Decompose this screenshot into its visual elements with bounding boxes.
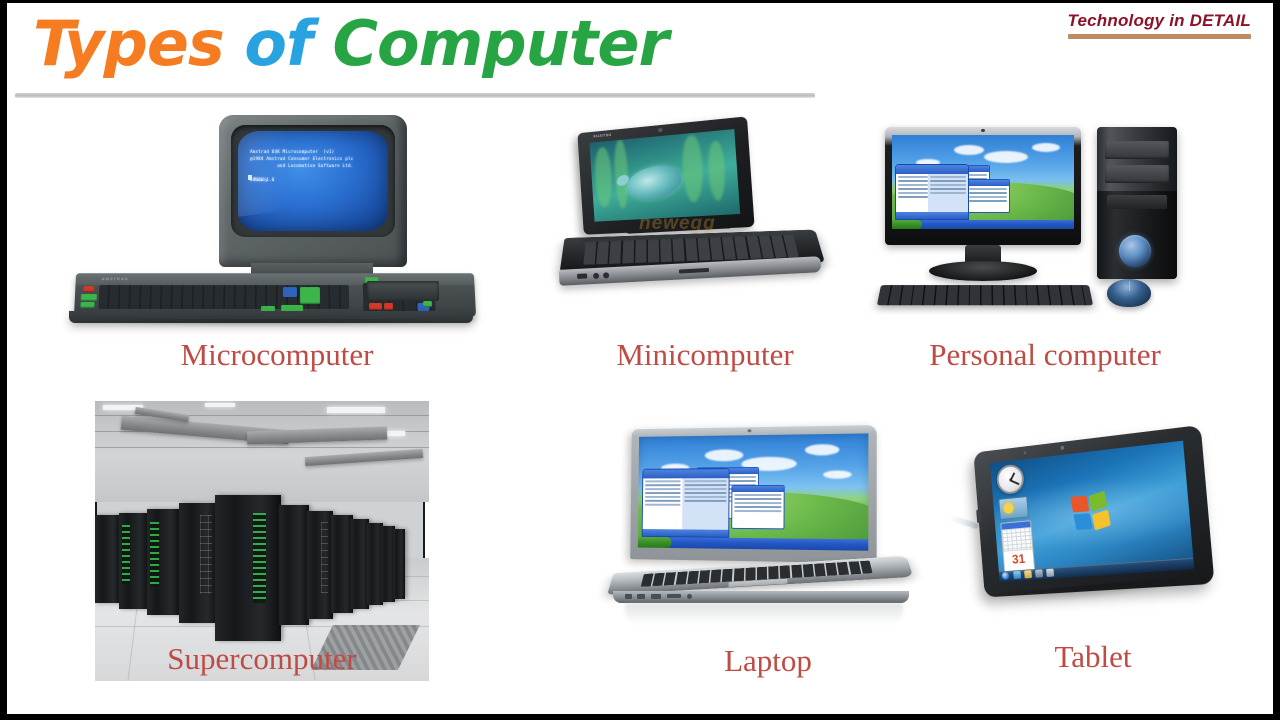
title-part-types: Types	[33, 7, 244, 80]
menu-item	[930, 188, 966, 190]
menu-item	[898, 184, 928, 186]
window-row	[734, 506, 781, 508]
taskbar-icon-explorer[interactable]	[1024, 570, 1032, 578]
title-part-of: of	[244, 7, 332, 80]
microcomputer-shadow	[67, 319, 487, 327]
laptop-base	[607, 556, 913, 595]
cloud	[954, 145, 984, 155]
label-supercomputer: Supercomputer	[95, 641, 429, 677]
umpc-screen	[589, 129, 740, 222]
laptop-screen	[638, 433, 869, 550]
start-menu-programs[interactable]	[896, 174, 930, 212]
cloud	[823, 470, 852, 478]
ceiling-grid-line	[95, 447, 425, 448]
menu-item	[684, 492, 726, 494]
cell-tablet: 31 July 2010 Tablet	[963, 433, 1223, 683]
xp-start-menu	[895, 164, 969, 220]
xp-start-menu	[642, 468, 730, 538]
menu-item	[898, 180, 928, 182]
screen-kelp-4	[707, 140, 727, 201]
menu-item	[684, 500, 726, 502]
cell-laptop: Laptop	[603, 427, 933, 687]
label-tablet: Tablet	[963, 639, 1223, 675]
watermark-text: newegg	[639, 213, 716, 235]
taskbar-start-orb[interactable]	[1002, 572, 1010, 580]
supercomputer-image	[95, 401, 425, 621]
laptop-port-usb	[651, 594, 661, 599]
cell-personal-computer: Personal computer	[875, 121, 1215, 381]
xp-window-secondary	[731, 485, 785, 529]
server-rack	[279, 505, 309, 621]
cloud	[705, 449, 744, 461]
cell-microcomputer: Amstrad 64K Microcomputer (v1) @1984 Ams…	[67, 115, 487, 375]
label-personal-computer: Personal computer	[875, 337, 1215, 373]
start-menu-header	[896, 165, 968, 174]
rack-vent-grid	[200, 515, 212, 594]
umpc-port-audio	[593, 273, 599, 279]
server-rack-front	[215, 495, 281, 621]
crt-cursor	[248, 175, 252, 180]
taskbar-icon-app[interactable]	[1046, 569, 1054, 577]
screen-kelp-3	[680, 134, 704, 202]
windows-logo-pane-yellow	[1092, 509, 1111, 530]
taskbar-icon-ie[interactable]	[1013, 571, 1021, 579]
menu-item	[684, 484, 726, 486]
taskbar-icon-media[interactable]	[1035, 569, 1043, 577]
rack-vent-grid	[321, 522, 329, 593]
personal-computer-image	[875, 121, 1215, 319]
brand-text: Technology in DETAIL	[1068, 11, 1251, 31]
menu-item	[930, 192, 966, 194]
calendar-gadget: 31 July 2010	[1000, 520, 1035, 573]
start-menu-header	[643, 469, 728, 478]
menu-item	[645, 484, 681, 486]
window-row	[734, 502, 781, 504]
umpc-card-slot	[679, 268, 709, 274]
xp-taskbar[interactable]	[638, 537, 868, 551]
minicomputer-image: FUJITSU newegg	[555, 121, 855, 316]
fujitsu-logo: FUJITSU	[593, 132, 611, 139]
optical-drive-bay	[1105, 165, 1169, 183]
xp-taskbar[interactable]	[892, 220, 1074, 229]
umpc-webcam-icon	[658, 128, 663, 132]
window-row	[734, 498, 781, 500]
menu-item	[645, 504, 681, 506]
server-rack	[307, 511, 333, 619]
laptop-webcam-icon	[747, 429, 751, 432]
key-shift-green	[81, 294, 97, 301]
window-row	[969, 192, 1007, 194]
laptop-front-edge	[613, 591, 909, 603]
tape-stop-key	[423, 301, 432, 307]
windows-logo-pane-blue	[1073, 513, 1092, 530]
key-blue-accent	[283, 287, 297, 297]
ceiling-light	[205, 403, 235, 407]
monitor-stand-base	[929, 261, 1037, 281]
laptop-port-power	[625, 594, 632, 599]
window-row	[969, 200, 1007, 202]
cell-supercomputer: Supercomputer	[95, 401, 429, 681]
crt-ready-text: Ready	[254, 176, 268, 183]
tape-play-key	[384, 303, 393, 310]
pc-mouse	[1107, 279, 1151, 307]
start-menu-places[interactable]	[928, 174, 968, 212]
clock-center-dot	[1009, 478, 1012, 481]
window-row	[734, 510, 781, 512]
rack-led-column	[122, 525, 130, 585]
start-button[interactable]	[638, 537, 672, 548]
crt-bezel: Amstrad 64K Microcomputer (v1) @1984 Ams…	[231, 125, 395, 237]
server-rack	[95, 515, 121, 603]
slide-root: Types of Computer Technology in DETAIL A…	[0, 0, 1280, 720]
umpc-port-usb	[577, 273, 587, 279]
laptop-lid	[630, 425, 876, 563]
window-row	[969, 196, 1007, 198]
menu-item	[930, 176, 966, 178]
tape-deck-window	[367, 281, 439, 301]
monitor-webcam-icon	[981, 129, 985, 132]
page-title: Types of Computer	[33, 7, 668, 80]
menu-item	[645, 488, 681, 490]
menu-item	[898, 196, 928, 198]
server-rack	[119, 513, 149, 609]
menu-item	[645, 492, 681, 494]
rack-led-column	[150, 522, 159, 588]
server-rack	[393, 529, 405, 599]
pc-monitor	[885, 127, 1081, 245]
crt-screen: Amstrad 64K Microcomputer (v1) @1984 Ams…	[238, 131, 388, 231]
cloud	[805, 444, 840, 456]
brand-logo: Technology in DETAIL	[1068, 11, 1251, 39]
pc-screen	[892, 135, 1074, 229]
laptop-port-sdcard	[667, 594, 681, 598]
menu-item	[930, 180, 966, 182]
start-menu-programs[interactable]	[643, 478, 683, 529]
laptop-reflection	[625, 603, 903, 625]
rack-led-column	[253, 513, 266, 604]
menu-item	[898, 188, 928, 190]
title-part-computer: Computer	[333, 7, 668, 80]
ceiling-light	[327, 407, 385, 413]
tablet-sensor-icon	[1023, 451, 1026, 454]
menu-item	[898, 176, 928, 178]
tape-record-key	[369, 303, 382, 310]
laptop-image	[603, 427, 933, 627]
windows-logo-icon	[1070, 490, 1115, 535]
xp-window-secondary	[966, 179, 1010, 213]
label-laptop: Laptop	[603, 643, 933, 679]
laptop-port-audio	[687, 594, 692, 599]
key-escape-red	[83, 286, 94, 292]
server-rack	[147, 509, 181, 615]
key-enter-green	[300, 287, 320, 304]
screen-turtle	[624, 161, 684, 204]
menu-item	[645, 496, 681, 498]
menu-item	[684, 496, 726, 498]
menu-item	[930, 184, 966, 186]
screen-kelp-2	[613, 139, 630, 208]
tablet-screen: 31 July 2010	[990, 441, 1194, 582]
tablet-body: 31 July 2010	[973, 425, 1214, 597]
tower-front-panel-slot	[1107, 195, 1167, 209]
pc-keyboard	[877, 285, 1093, 305]
start-menu-footer	[643, 529, 729, 537]
menu-item	[645, 480, 681, 482]
calendar-month-grid	[1002, 527, 1033, 551]
brand-underline	[1068, 34, 1251, 39]
window-titlebar[interactable]	[967, 180, 1009, 186]
start-menu-places[interactable]	[682, 478, 729, 530]
key-ctrl-green	[80, 302, 94, 308]
tablet-front-camera-icon	[1060, 446, 1064, 450]
microcomputer-image: Amstrad 64K Microcomputer (v1) @1984 Ams…	[67, 115, 487, 325]
server-rack	[331, 515, 353, 613]
cloud	[1032, 143, 1060, 152]
laptop-port-thunderbolt	[637, 594, 645, 599]
window-titlebar[interactable]	[732, 486, 783, 492]
menu-item	[684, 480, 726, 482]
label-minicomputer: Minicomputer	[555, 337, 855, 373]
power-button[interactable]	[1119, 235, 1151, 267]
menu-item	[684, 488, 726, 490]
tablet-stylus	[949, 515, 979, 530]
server-rack	[179, 503, 219, 621]
start-button[interactable]	[892, 220, 922, 229]
sun-icon	[1003, 502, 1014, 514]
menu-item	[645, 500, 681, 502]
title-divider	[15, 93, 815, 98]
windows-logo-pane-red	[1070, 496, 1089, 513]
window-row	[969, 188, 1007, 190]
windows-logo-pane-green	[1089, 491, 1108, 512]
window-row	[734, 494, 781, 496]
cloud	[984, 151, 1028, 163]
mouse-button-divider	[1129, 281, 1130, 291]
pc-tower-case	[1097, 127, 1177, 279]
optical-drive-bay	[1105, 141, 1169, 159]
menu-item	[898, 192, 928, 194]
weather-gadget	[998, 496, 1029, 520]
amstrad-brand-text: AMSTRAD	[102, 276, 129, 281]
tablet-side-button[interactable]	[976, 509, 981, 523]
umpc-port-mic	[603, 272, 609, 278]
label-microcomputer: Microcomputer	[67, 337, 487, 373]
cell-minicomputer: FUJITSU newegg Minicomputer	[555, 121, 855, 381]
start-menu-footer	[896, 212, 968, 219]
crt-monitor-body: Amstrad 64K Microcomputer (v1) @1984 Ams…	[219, 115, 407, 267]
screen-kelp-1	[593, 147, 613, 208]
tablet-image: 31 July 2010	[963, 433, 1223, 613]
